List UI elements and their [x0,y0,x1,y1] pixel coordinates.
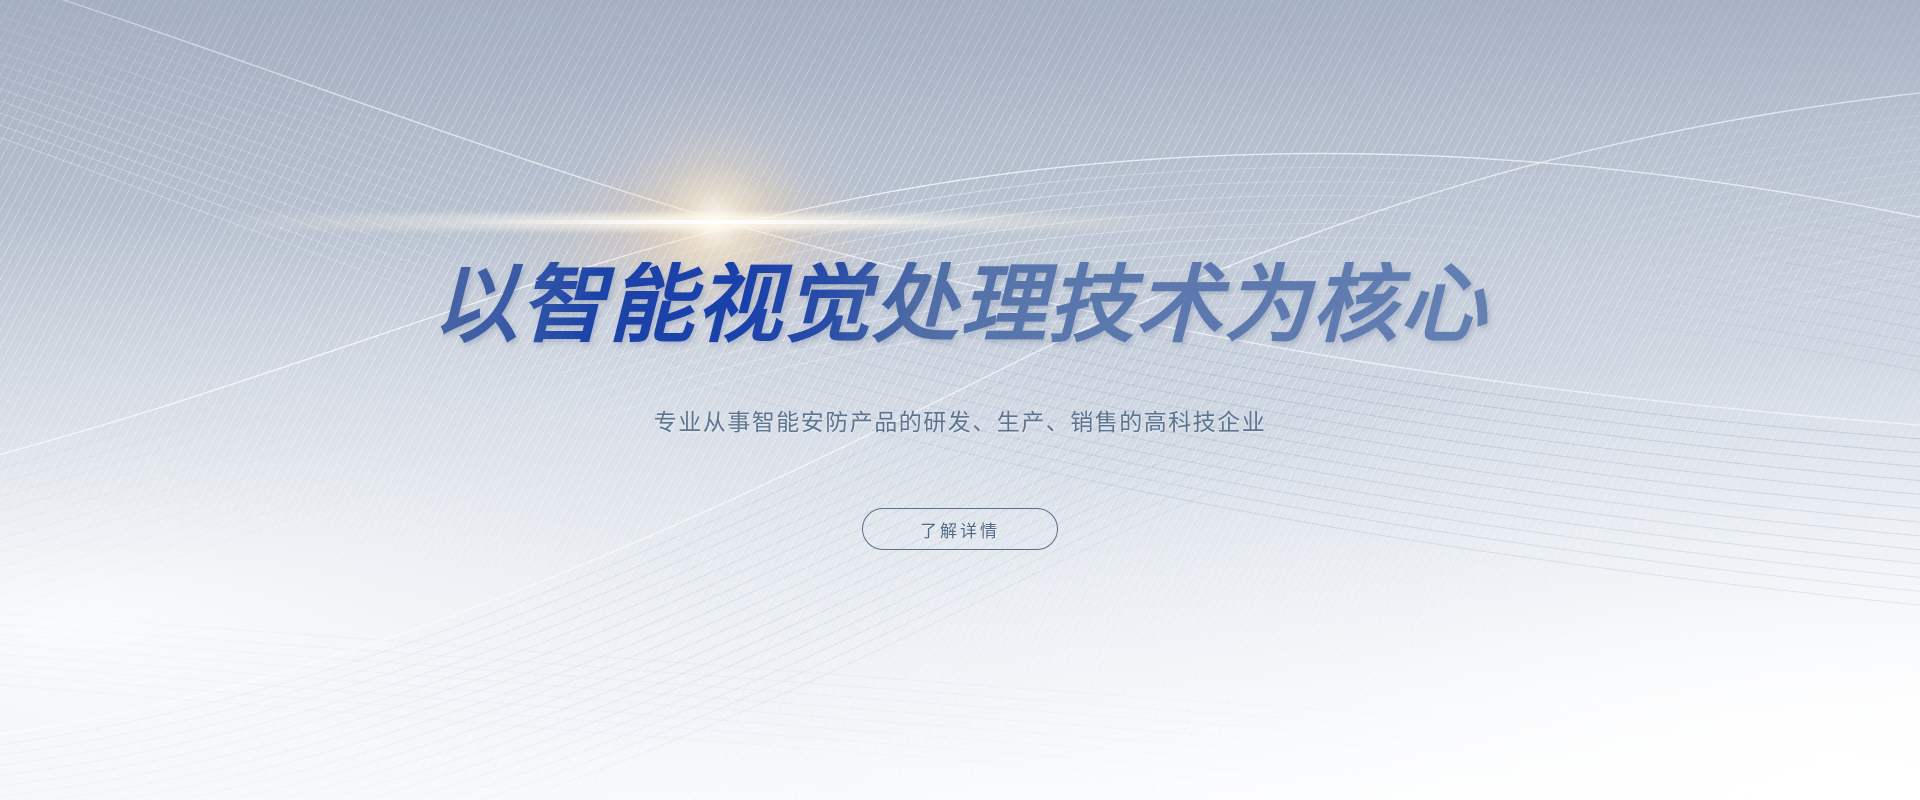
hero-subtitle: 专业从事智能安防产品的研发、生产、销售的高科技企业 [654,403,1267,437]
top-vignette [0,0,1920,800]
learn-more-button[interactable]: 了解详情 [862,508,1058,550]
hero-banner: 以智能视觉处理技术为核心 专业从事智能安防产品的研发、生产、销售的高科技企业 了… [0,0,1920,800]
hero-title: 以智能视觉处理技术为核心 [432,262,1488,348]
